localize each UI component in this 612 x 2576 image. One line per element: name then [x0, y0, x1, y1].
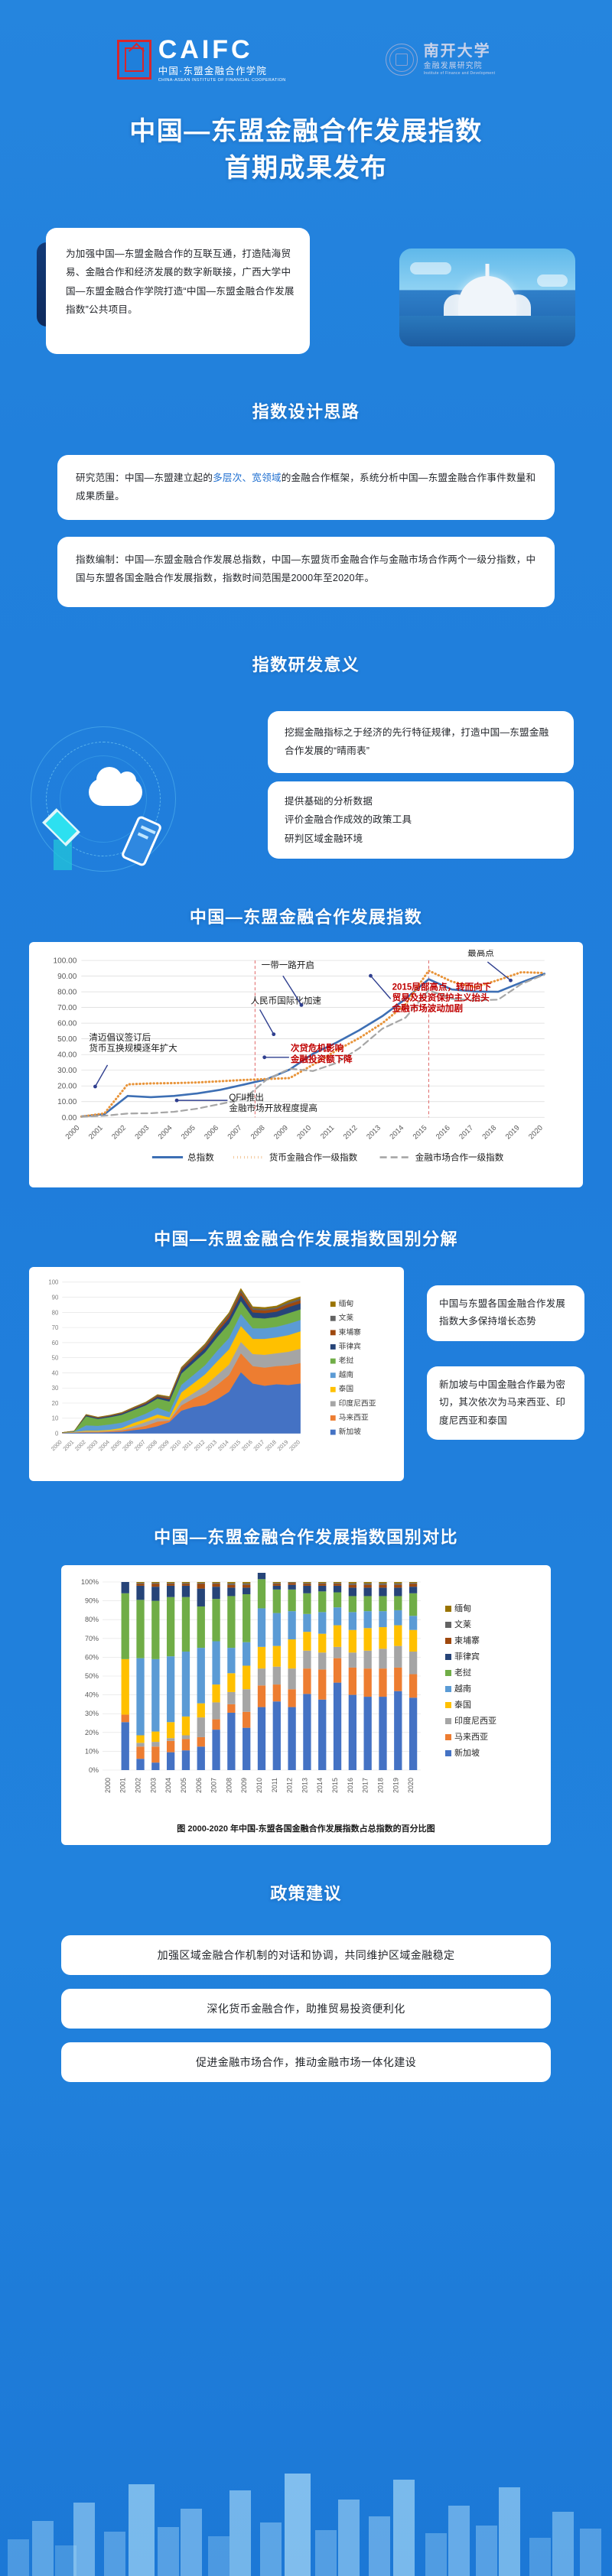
svg-text:2008: 2008 [225, 1778, 233, 1793]
svg-text:2007: 2007 [133, 1439, 147, 1453]
svg-text:2011: 2011 [319, 1123, 336, 1140]
area-note-1: 中国与东盟各国金融合作发展指数大多保持增长态势 [427, 1285, 584, 1340]
svg-text:2018: 2018 [481, 1123, 499, 1141]
area-chart-container: 0102030405060708090100200020012002200320… [29, 1267, 404, 1480]
svg-text:2016: 2016 [240, 1439, 254, 1453]
design-scope-lead: 研究范围： [76, 473, 125, 483]
svg-text:2004: 2004 [164, 1778, 172, 1793]
svg-text:一带一路开启: 一带一路开启 [262, 960, 314, 970]
building-shape [129, 2484, 155, 2576]
page-title-line1: 中国—东盟金融合作发展指数 [0, 113, 612, 150]
svg-text:越南: 越南 [454, 1683, 471, 1694]
svg-text:文莱: 文莱 [454, 1619, 471, 1629]
area-chart: 0102030405060708090100200020012002200320… [37, 1275, 396, 1473]
svg-text:40.00: 40.00 [57, 1051, 77, 1059]
svg-text:0%: 0% [89, 1766, 99, 1774]
svg-text:10: 10 [52, 1415, 59, 1422]
svg-text:2002: 2002 [110, 1123, 128, 1141]
svg-text:90: 90 [52, 1294, 59, 1301]
svg-text:60%: 60% [85, 1654, 99, 1662]
building-shape [476, 2526, 497, 2576]
svg-text:次贷危机影响: 次贷危机影响 [291, 1042, 344, 1053]
page-title-line2: 首期成果发布 [0, 150, 612, 187]
caifc-abbr: CAIFC [158, 37, 286, 63]
nankai-sub-name: 金融发展研究院 [424, 62, 496, 70]
svg-text:2010: 2010 [256, 1778, 263, 1793]
svg-text:2019: 2019 [504, 1123, 522, 1141]
svg-text:2002: 2002 [73, 1439, 87, 1453]
svg-text:50%: 50% [85, 1672, 99, 1680]
building-shape [104, 2532, 125, 2576]
svg-text:0.00: 0.00 [62, 1113, 77, 1122]
svg-text:2005: 2005 [180, 1778, 187, 1793]
svg-text:100.00: 100.00 [54, 957, 77, 965]
svg-text:最高点: 最高点 [467, 950, 494, 958]
svg-text:2015: 2015 [412, 1123, 429, 1141]
svg-text:泰国: 泰国 [454, 1699, 471, 1710]
building-shape [448, 2506, 470, 2576]
skyline-illustration [0, 2461, 612, 2576]
svg-text:20%: 20% [85, 1729, 99, 1736]
building-shape [338, 2500, 360, 2576]
svg-text:2012: 2012 [193, 1439, 207, 1453]
svg-text:2018: 2018 [376, 1778, 384, 1793]
building-shape [499, 2487, 520, 2576]
svg-text:柬埔寨: 柬埔寨 [339, 1327, 362, 1337]
design-scope-p1: 中国—东盟建立起的 [125, 473, 213, 483]
svg-text:60: 60 [52, 1340, 59, 1346]
svg-text:老挝: 老挝 [339, 1356, 354, 1366]
building-shape [260, 2522, 282, 2576]
line-chart-container: 0.0010.0020.0030.0040.0050.0060.0070.008… [29, 942, 583, 1188]
svg-text:50: 50 [52, 1355, 59, 1362]
cloud-shape [537, 274, 568, 287]
caifc-en-name: CHINA-ASEAN INSTITUTE OF FINANCIAL COOPE… [158, 79, 286, 83]
svg-text:2012: 2012 [286, 1778, 294, 1793]
building-shape [315, 2530, 337, 2576]
svg-text:文莱: 文莱 [339, 1313, 354, 1323]
area-chart-section-title: 中国—东盟金融合作发展指数国别分解 [0, 1226, 612, 1250]
svg-text:80: 80 [52, 1310, 59, 1317]
svg-text:2003: 2003 [86, 1439, 99, 1453]
svg-text:2015: 2015 [331, 1778, 339, 1793]
svg-text:金融投资额下降: 金融投资额下降 [290, 1053, 353, 1064]
svg-text:新加坡: 新加坡 [454, 1747, 480, 1758]
svg-text:40: 40 [52, 1370, 59, 1377]
svg-text:2018: 2018 [264, 1439, 278, 1453]
svg-text:马来西亚: 马来西亚 [339, 1413, 369, 1422]
area-note-2: 新加坡与中国金融合作最为密切，其次依次为马来西亚、印度尼西亚和泰国 [427, 1366, 584, 1439]
building-shape [393, 2480, 415, 2576]
svg-text:2004: 2004 [157, 1123, 174, 1141]
logo-nankai: 南开大学 金融发展研究院 Institute of Finance and De… [386, 43, 496, 76]
caifc-cn-name: 中国·东盟金融合作学院 [158, 67, 286, 76]
svg-text:2019: 2019 [392, 1778, 399, 1793]
policy-card-2: 深化货币金融合作，助推贸易投资便利化 [61, 1989, 551, 2029]
svg-text:2008: 2008 [249, 1123, 267, 1141]
svg-text:泰国: 泰国 [339, 1384, 354, 1394]
policy-section-title: 政策建议 [0, 1880, 612, 1905]
svg-text:2017: 2017 [362, 1778, 369, 1793]
cloud-icon [89, 778, 142, 806]
svg-text:100%: 100% [81, 1578, 99, 1586]
significance-card-2: 提供基础的分析数据 评价金融合作成效的政策工具 研判区域金融环境 [268, 781, 574, 859]
svg-text:菲律宾: 菲律宾 [454, 1651, 480, 1662]
svg-text:2002: 2002 [135, 1778, 142, 1793]
design-section-title: 指数设计思路 [0, 398, 612, 423]
svg-text:货币互换规模逐年扩大: 货币互换规模逐年扩大 [89, 1042, 177, 1053]
svg-text:2000: 2000 [104, 1778, 112, 1793]
svg-text:50.00: 50.00 [57, 1035, 77, 1044]
svg-text:2004: 2004 [97, 1439, 111, 1453]
svg-text:柬埔寨: 柬埔寨 [454, 1635, 480, 1645]
design-card-composition: 指数编制：中国—东盟金融合作发展总指数，中国—东盟货币金融合作与金融市场合作两个… [57, 537, 555, 607]
building-shape [181, 2509, 202, 2576]
logo-caifc: CAIFC 中国·东盟金融合作学院 CHINA-ASEAN INSTITUTE … [117, 37, 286, 83]
building-shape [580, 2529, 601, 2576]
svg-text:2010: 2010 [168, 1439, 182, 1453]
svg-text:90.00: 90.00 [57, 973, 77, 981]
svg-text:2017: 2017 [252, 1439, 265, 1453]
svg-text:2017: 2017 [457, 1123, 475, 1141]
svg-text:10.00: 10.00 [57, 1098, 77, 1106]
svg-text:2005: 2005 [109, 1439, 123, 1453]
svg-text:90%: 90% [85, 1597, 99, 1605]
nankai-en-name: Institute of Finance and Development [424, 72, 496, 76]
design-card-scope: 研究范围：中国—东盟建立起的多层次、宽领域的金融合作框架，系统分析中国—东盟金融… [57, 455, 555, 520]
design-scope-highlight: 多层次、宽领域 [213, 473, 282, 483]
svg-text:70.00: 70.00 [57, 1004, 77, 1012]
building-main [458, 276, 516, 317]
svg-text:2005: 2005 [180, 1123, 197, 1141]
svg-text:2007: 2007 [226, 1123, 244, 1141]
svg-text:40%: 40% [85, 1691, 99, 1699]
significance-card-1: 挖掘金融指标之于经济的先行特征规律，打造中国—东盟金融合作发展的“晴雨表” [268, 711, 574, 773]
svg-text:2013: 2013 [365, 1123, 382, 1141]
svg-text:0: 0 [55, 1431, 59, 1437]
intro-section: 为加强中国—东盟金融合作的互联互通，打造陆海贸易、金融合作和经济发展的数字新联接… [0, 224, 612, 362]
building-shape [425, 2533, 447, 2576]
svg-text:2007: 2007 [210, 1778, 218, 1793]
line-chart: 0.0010.0020.0030.0040.0050.0060.0070.008… [37, 950, 575, 1181]
bar-chart-section-title: 中国—东盟金融合作发展指数国别对比 [0, 1524, 612, 1548]
svg-text:2000: 2000 [50, 1439, 63, 1453]
svg-text:2006: 2006 [121, 1439, 135, 1453]
svg-text:金融市场合作一级指数: 金融市场合作一级指数 [415, 1152, 504, 1162]
building-shape [32, 2521, 54, 2576]
svg-text:印度尼西亚: 印度尼西亚 [339, 1398, 376, 1408]
svg-text:2009: 2009 [240, 1778, 248, 1793]
svg-text:2010: 2010 [295, 1123, 313, 1141]
svg-text:2013: 2013 [301, 1778, 308, 1793]
svg-text:2019: 2019 [276, 1439, 290, 1453]
svg-text:2015: 2015 [228, 1439, 242, 1453]
logo-bar: CAIFC 中国·东盟金融合作学院 CHINA-ASEAN INSTITUTE … [0, 0, 612, 83]
svg-text:印度尼西亚: 印度尼西亚 [454, 1715, 496, 1726]
svg-text:贸易及投资保护主义抬头: 贸易及投资保护主义抬头 [392, 992, 490, 1002]
building-shape [158, 2527, 179, 2576]
svg-text:2008: 2008 [145, 1439, 158, 1453]
significance-section-title: 指数研发意义 [0, 651, 612, 676]
svg-text:2003: 2003 [133, 1123, 151, 1141]
svg-text:新加坡: 新加坡 [339, 1427, 362, 1437]
svg-text:2014: 2014 [316, 1778, 324, 1793]
svg-text:2006: 2006 [203, 1123, 220, 1141]
svg-text:2020: 2020 [527, 1123, 545, 1141]
svg-text:2014: 2014 [216, 1439, 230, 1453]
building-shape [8, 2539, 29, 2576]
svg-text:人民币国际化加速: 人民币国际化加速 [251, 995, 322, 1005]
svg-text:2001: 2001 [119, 1778, 127, 1793]
bar-chart: 0%10%20%30%40%50%60%70%80%90%100%2000200… [69, 1573, 543, 1817]
svg-text:2000: 2000 [64, 1123, 82, 1141]
svg-text:越南: 越南 [339, 1369, 354, 1379]
svg-text:缅甸: 缅甸 [454, 1603, 471, 1613]
svg-text:100: 100 [48, 1279, 59, 1286]
bar-chart-caption: 图 2000-2020 年中国-东盟各国金融合作发展指数占总指数的百分比图 [69, 1817, 543, 1837]
building-shape [229, 2490, 251, 2576]
cloud-shape [410, 262, 451, 274]
svg-text:2001: 2001 [87, 1123, 105, 1141]
svg-text:2006: 2006 [195, 1778, 203, 1793]
svg-text:2020: 2020 [288, 1439, 301, 1453]
svg-text:30: 30 [52, 1385, 59, 1392]
svg-text:20.00: 20.00 [57, 1082, 77, 1090]
svg-text:2016: 2016 [347, 1778, 354, 1793]
svg-text:2001: 2001 [61, 1439, 75, 1453]
svg-text:金融市场开放程度提高: 金融市场开放程度提高 [229, 1103, 317, 1113]
svg-text:2011: 2011 [181, 1439, 194, 1453]
svg-text:老挝: 老挝 [454, 1667, 471, 1678]
svg-text:70: 70 [52, 1324, 59, 1331]
significance-point-3: 研判区域金融环境 [285, 830, 557, 849]
line-chart-section-title: 中国—东盟金融合作发展指数 [0, 904, 612, 928]
svg-text:20: 20 [52, 1400, 59, 1407]
building-shape [529, 2538, 551, 2576]
svg-text:2015局部高点，转而向下: 2015局部高点，转而向下 [392, 981, 492, 992]
svg-text:菲律宾: 菲律宾 [339, 1341, 362, 1351]
svg-text:30.00: 30.00 [57, 1067, 77, 1075]
significance-point-2: 评价金融合作成效的政策工具 [285, 810, 557, 830]
svg-text:2009: 2009 [272, 1123, 290, 1141]
page-title: 中国—东盟金融合作发展指数 首期成果发布 [0, 113, 612, 187]
bar-chart-container: 0%10%20%30%40%50%60%70%80%90%100%2000200… [61, 1565, 551, 1845]
svg-text:总指数: 总指数 [187, 1152, 214, 1162]
svg-text:清迈倡议签订后: 清迈倡议签订后 [89, 1031, 151, 1042]
svg-text:10%: 10% [85, 1748, 99, 1756]
building-shape [552, 2512, 574, 2576]
svg-text:金融市场波动加剧: 金融市场波动加剧 [392, 1002, 463, 1013]
significance-point-1: 提供基础的分析数据 [285, 792, 557, 811]
svg-text:2016: 2016 [435, 1123, 452, 1141]
svg-text:货币金融合作一级指数: 货币金融合作一级指数 [269, 1152, 358, 1162]
policy-card-1: 加强区域金融合作机制的对话和协调，共同维护区域金融稳定 [61, 1935, 551, 1975]
building-shape [369, 2516, 390, 2576]
nankai-cn-name: 南开大学 [424, 43, 496, 60]
water-shape [399, 316, 575, 346]
svg-text:QFII推出: QFII推出 [229, 1092, 264, 1103]
intro-card: 为加强中国—东盟金融合作的互联互通，打造陆海贸易、金融合作和经济发展的数字新联接… [46, 228, 310, 354]
building-shape [285, 2474, 311, 2576]
building-shape [208, 2536, 229, 2576]
policy-card-3: 促进金融市场合作，推动金融市场一体化建设 [61, 2042, 551, 2082]
svg-text:2003: 2003 [149, 1778, 157, 1793]
svg-text:2011: 2011 [271, 1778, 278, 1792]
venue-photo [399, 249, 575, 346]
nankai-seal-icon [386, 44, 418, 76]
svg-text:2009: 2009 [157, 1439, 171, 1453]
svg-text:缅甸: 缅甸 [339, 1298, 354, 1308]
svg-text:2020: 2020 [407, 1778, 415, 1793]
svg-text:80.00: 80.00 [57, 988, 77, 996]
svg-text:2012: 2012 [342, 1123, 360, 1141]
fintech-illustration [14, 719, 228, 872]
svg-text:80%: 80% [85, 1616, 99, 1624]
svg-text:马来西亚: 马来西亚 [454, 1732, 488, 1742]
svg-text:60.00: 60.00 [57, 1019, 77, 1028]
caifc-seal-icon [117, 40, 151, 80]
svg-text:2013: 2013 [204, 1439, 218, 1453]
svg-text:70%: 70% [85, 1635, 99, 1642]
svg-text:30%: 30% [85, 1710, 99, 1718]
building-shape [73, 2503, 95, 2576]
svg-text:2014: 2014 [388, 1123, 405, 1141]
